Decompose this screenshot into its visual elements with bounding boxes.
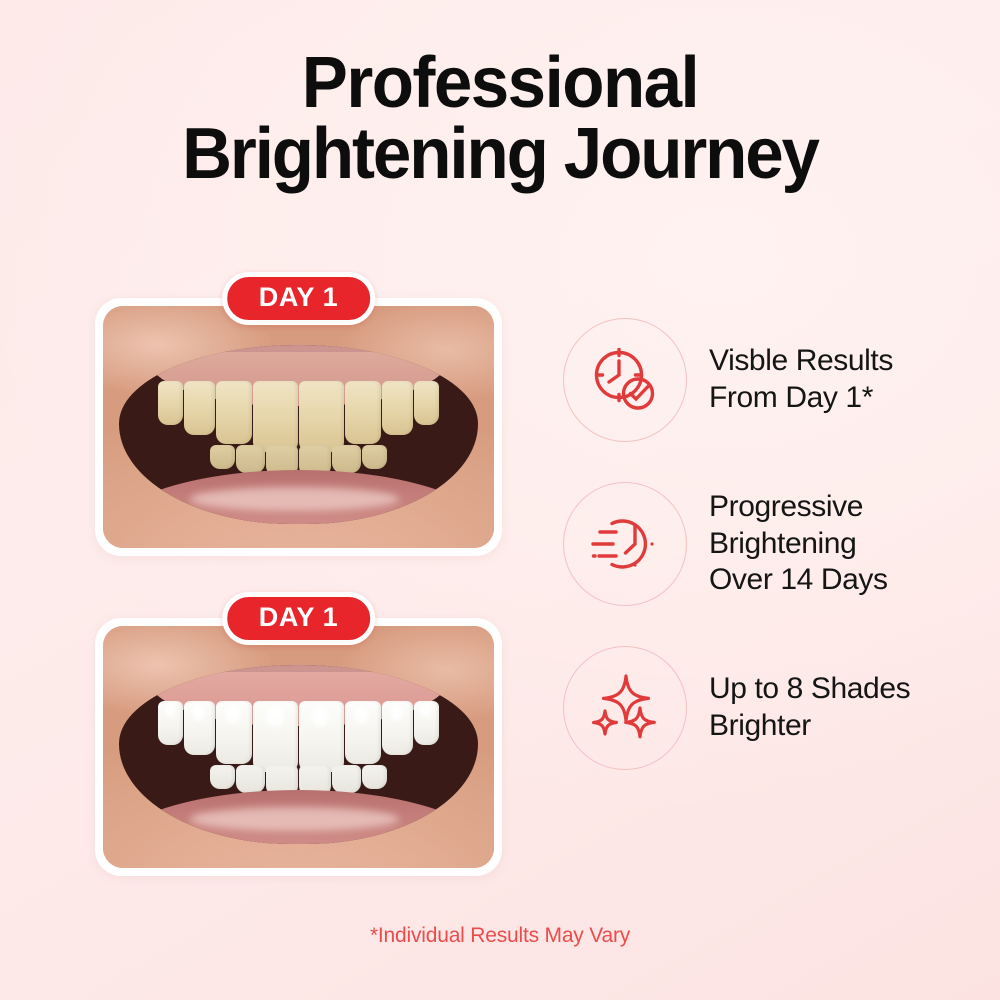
tooth <box>216 381 252 444</box>
headline-line-2: Brightening Journey <box>20 119 980 190</box>
mouth <box>119 665 479 844</box>
tooth <box>362 765 386 789</box>
before-photo-card: DAY 1 <box>95 298 502 556</box>
mouth <box>119 345 479 524</box>
clock-check-icon <box>563 318 687 442</box>
tooth <box>414 381 439 425</box>
upper-teeth <box>158 381 439 453</box>
disclaimer-text: *Individual Results May Vary <box>0 924 1000 948</box>
before-photo-image <box>103 306 494 548</box>
tooth <box>345 701 381 764</box>
tooth <box>210 765 234 789</box>
speed-clock-icon <box>563 482 687 606</box>
after-photo-image <box>103 626 494 868</box>
feature-line: Brightening <box>709 526 888 563</box>
tooth <box>299 701 344 773</box>
headline-line-1: Professional <box>20 48 980 119</box>
tooth <box>299 381 344 453</box>
tooth <box>216 701 252 764</box>
feature-list: Visble Results From Day 1* Progres <box>563 318 983 770</box>
tooth <box>382 701 413 755</box>
tooth <box>345 381 381 444</box>
tooth <box>332 765 361 793</box>
lower-lip <box>119 470 479 524</box>
lower-lip <box>119 790 479 844</box>
feature-item-shades-brighter: Up to 8 Shades Brighter <box>563 646 983 770</box>
sparkles-icon <box>563 646 687 770</box>
tooth <box>184 701 215 755</box>
feature-item-progressive-brightening: Progressive Brightening Over 14 Days <box>563 482 983 606</box>
feature-text: Up to 8 Shades Brighter <box>709 671 910 744</box>
day-badge-after: DAY 1 <box>222 592 376 645</box>
tooth <box>414 701 439 745</box>
feature-line: Up to 8 Shades <box>709 671 910 708</box>
day-badge-before: DAY 1 <box>222 272 376 325</box>
tooth <box>210 445 234 469</box>
feature-text: Progressive Brightening Over 14 Days <box>709 489 888 599</box>
upper-teeth <box>158 701 439 773</box>
tooth <box>382 381 413 435</box>
feature-line: Visble Results <box>709 343 893 380</box>
tooth <box>253 701 298 773</box>
tooth <box>184 381 215 435</box>
feature-line: From Day 1* <box>709 380 893 417</box>
tooth <box>362 445 386 469</box>
feature-line: Progressive <box>709 489 888 526</box>
feature-line: Over 14 Days <box>709 562 888 599</box>
tooth <box>236 765 265 793</box>
tooth <box>158 701 183 745</box>
promo-poster: Professional Brightening Journey <box>0 0 1000 1000</box>
page-title: Professional Brightening Journey <box>20 48 980 191</box>
tooth <box>332 445 361 473</box>
tooth <box>236 445 265 473</box>
tooth <box>158 381 183 425</box>
feature-text: Visble Results From Day 1* <box>709 343 893 416</box>
feature-item-visible-results: Visble Results From Day 1* <box>563 318 983 442</box>
tooth <box>253 381 298 453</box>
feature-line: Brighter <box>709 708 910 745</box>
after-photo-card: DAY 1 <box>95 618 502 876</box>
